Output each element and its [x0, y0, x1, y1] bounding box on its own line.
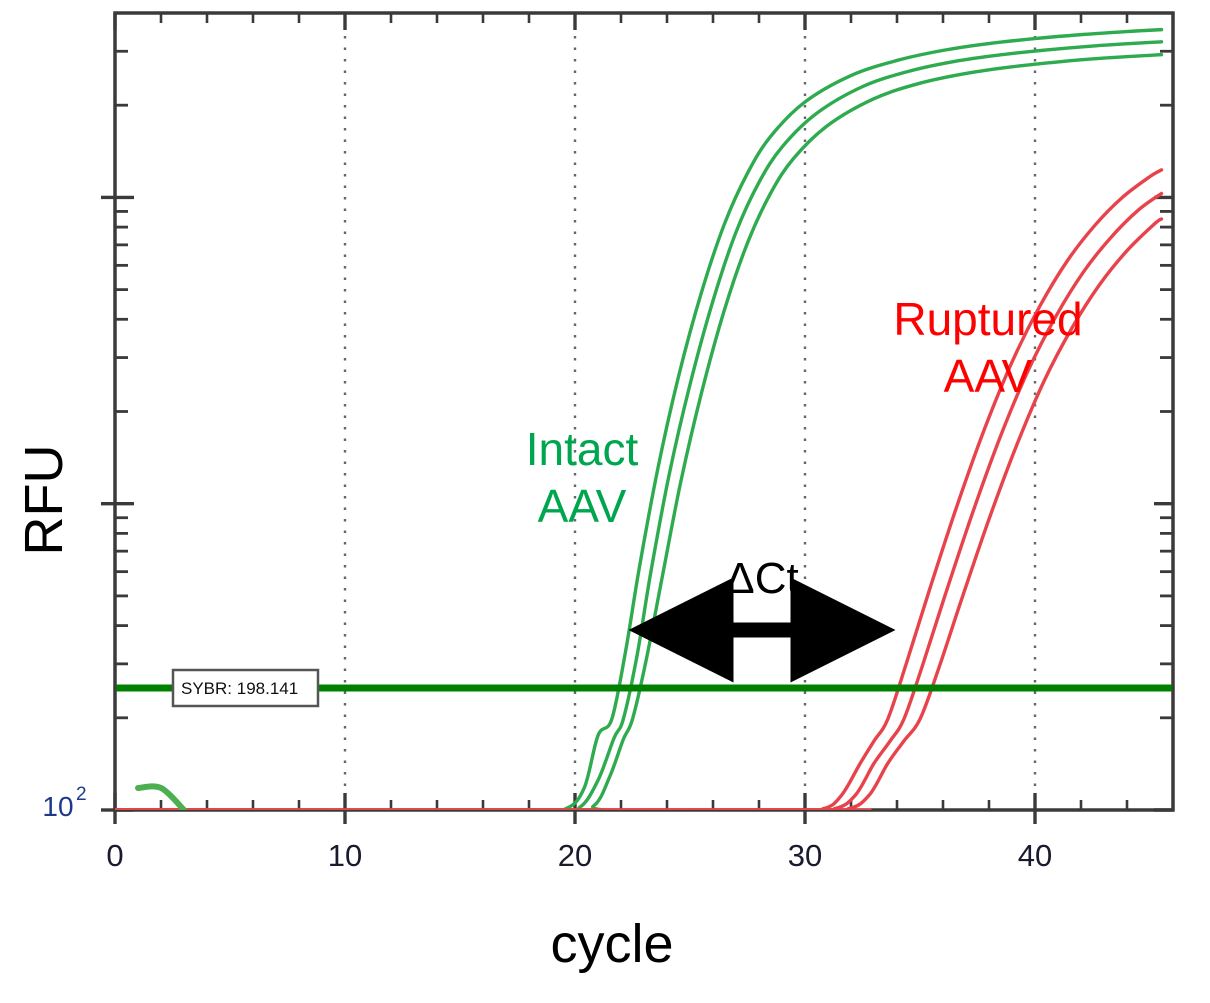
y-axis-exponent-label: 2 [76, 784, 87, 805]
amplification-plot: SYBR: 198.141 010203040 cycle RFU 10 2 I… [0, 0, 1210, 1003]
x-tick-label-30: 30 [788, 838, 822, 873]
x-axis-title: cycle [550, 914, 673, 974]
ruptured-aav-label-line1: Ruptured [893, 293, 1082, 345]
chart-container: SYBR: 198.141 010203040 cycle RFU 10 2 I… [0, 0, 1210, 1003]
x-tick-label-0: 0 [106, 838, 123, 873]
ruptured-aav-label-line2: AAV [944, 350, 1033, 402]
intact-aav-label-line2: AAV [538, 480, 627, 532]
y-axis-base-label: 10 [42, 791, 73, 822]
delta-ct-label: ΔCt [725, 554, 798, 603]
threshold-label: SYBR: 198.141 [181, 679, 298, 698]
x-tick-label-20: 20 [558, 838, 592, 873]
x-tick-label-10: 10 [328, 838, 362, 873]
x-tick-label-40: 40 [1018, 838, 1052, 873]
intact-aav-label-line1: Intact [526, 423, 639, 475]
y-axis-title: RFU [14, 445, 74, 556]
